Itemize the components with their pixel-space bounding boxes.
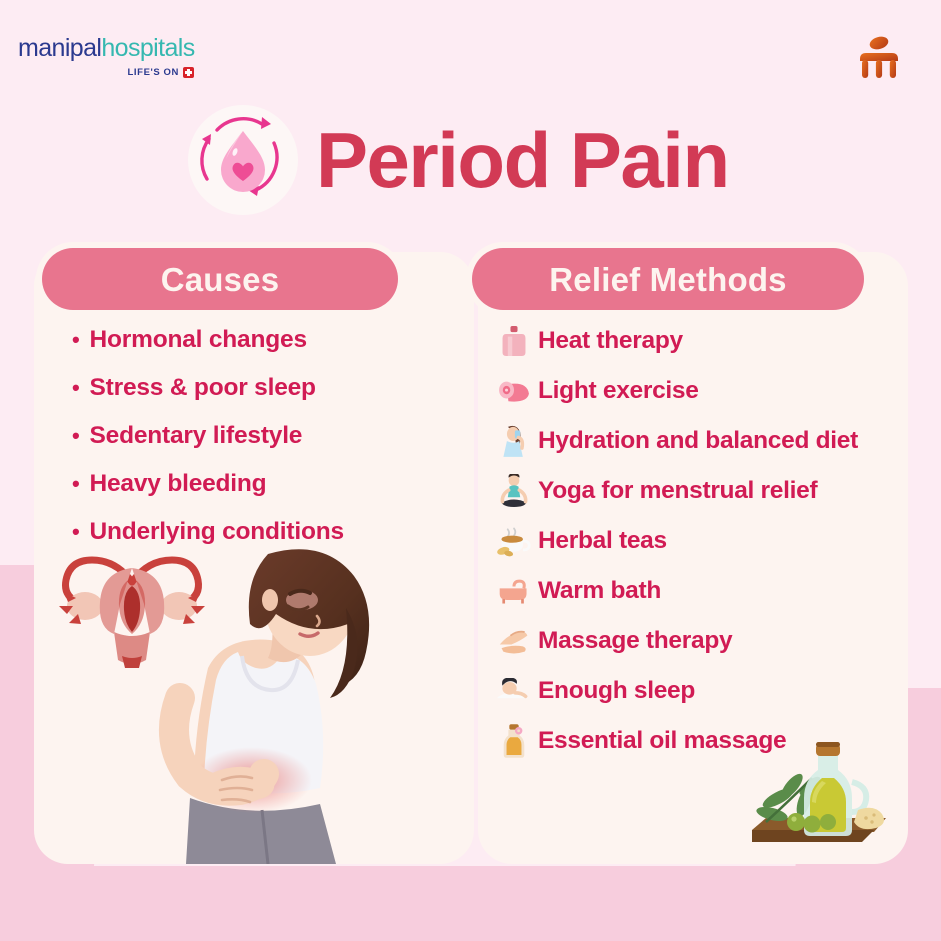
list-item: Yoga for menstrual relief	[496, 466, 916, 516]
essential-oil-bottle-icon	[496, 722, 532, 760]
relief-heading-pill: Relief Methods	[472, 248, 864, 310]
manipal-m-mark-icon	[853, 32, 905, 84]
list-item: Heat therapy	[496, 316, 916, 366]
relief-label: Enough sleep	[538, 677, 695, 705]
cause-label: Stress & poor sleep	[90, 374, 316, 402]
logo-word-manipal: manipal	[18, 34, 101, 62]
list-item: • Stress & poor sleep	[72, 374, 452, 402]
bullet-icon: •	[72, 377, 80, 399]
causes-heading-pill: Causes	[42, 248, 398, 310]
period-drop-cycle-icon	[186, 103, 300, 217]
list-item: Essential oil massage	[496, 716, 916, 766]
period-pain-infographic: manipalhospitals LIFE'S ON	[0, 0, 941, 941]
manipal-hospitals-logo[interactable]: manipalhospitals LIFE'S ON	[18, 36, 248, 78]
relief-label: Herbal teas	[538, 527, 667, 555]
logo-tagline-text: LIFE'S ON	[128, 67, 179, 78]
logo-wordmark: manipalhospitals	[18, 36, 248, 61]
relief-label: Warm bath	[538, 577, 661, 605]
cause-label: Underlying conditions	[90, 518, 344, 546]
bullet-icon: •	[72, 425, 80, 447]
cause-label: Heavy bleeding	[90, 470, 267, 498]
cause-label: Hormonal changes	[90, 326, 307, 354]
woman-yoga-pose-icon	[496, 472, 532, 510]
page-title-row: Period Pain	[186, 103, 729, 217]
list-item: Light exercise	[496, 366, 916, 416]
list-item: Massage therapy	[496, 616, 916, 666]
list-item: • Hormonal changes	[72, 326, 452, 354]
causes-heading: Causes	[161, 263, 280, 296]
relief-methods-list: Heat therapy Light exercise	[496, 316, 916, 766]
list-item: Hydration and balanced diet	[496, 416, 916, 466]
relief-label: Yoga for menstrual relief	[538, 477, 817, 505]
logo-tagline: LIFE'S ON	[18, 67, 194, 78]
list-item: • Underlying conditions	[72, 518, 452, 546]
cause-label: Sedentary lifestyle	[90, 422, 303, 450]
relief-heading: Relief Methods	[549, 263, 787, 296]
bullet-icon: •	[72, 329, 80, 351]
medical-cross-icon	[183, 67, 194, 78]
relief-label: Heat therapy	[538, 327, 683, 355]
logo-word-hospitals: hospitals	[101, 34, 194, 62]
massage-hands-icon	[496, 622, 532, 660]
woman-abdominal-pain-illustration	[150, 548, 440, 864]
bullet-icon: •	[72, 473, 80, 495]
causes-list: • Hormonal changes • Stress & poor sleep…	[72, 326, 452, 566]
woman-drinking-water-icon	[496, 422, 532, 460]
relief-label: Hydration and balanced diet	[538, 427, 858, 455]
list-item: Warm bath	[496, 566, 916, 616]
relief-label: Massage therapy	[538, 627, 732, 655]
hot-water-bottle-icon	[496, 322, 532, 360]
page-title: Period Pain	[316, 121, 729, 199]
herbal-tea-cup-icon	[496, 522, 532, 560]
list-item: Enough sleep	[496, 666, 916, 716]
yoga-mat-icon	[496, 372, 532, 410]
relief-label: Essential oil massage	[538, 727, 786, 755]
relief-label: Light exercise	[538, 377, 699, 405]
sleeping-person-icon	[496, 672, 532, 710]
bathtub-icon	[496, 572, 532, 610]
list-item: • Sedentary lifestyle	[72, 422, 452, 450]
list-item: Herbal teas	[496, 516, 916, 566]
list-item: • Heavy bleeding	[72, 470, 452, 498]
bullet-icon: •	[72, 521, 80, 543]
